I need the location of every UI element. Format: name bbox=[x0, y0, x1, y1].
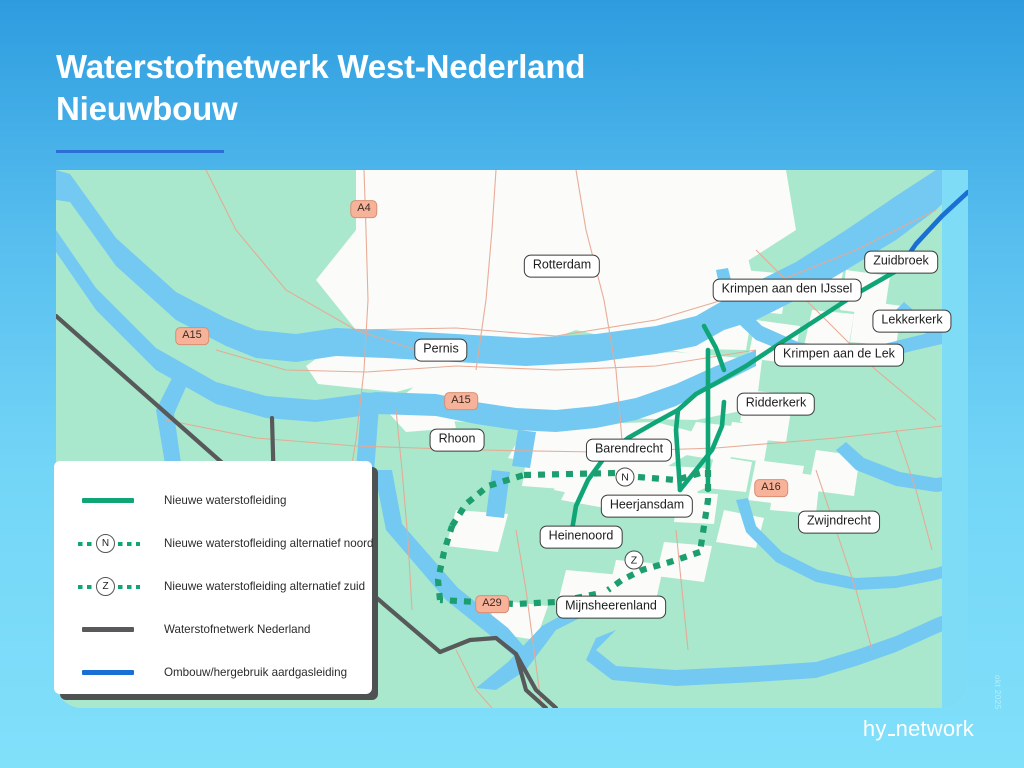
place-label: Krimpen aan den IJssel bbox=[713, 279, 862, 302]
legend-swatch-alt: N bbox=[78, 534, 164, 554]
place-label: Zwijndrecht bbox=[798, 511, 880, 534]
legend-label: Ombouw/hergebruik aardgasleiding bbox=[164, 666, 347, 679]
date-stamp: okt 2025 bbox=[993, 675, 1002, 710]
place-label: Pernis bbox=[414, 339, 467, 362]
legend-marker-n: N bbox=[96, 534, 115, 553]
legend-dash-right bbox=[118, 585, 140, 590]
legend-line-swatch bbox=[82, 498, 134, 503]
highway-shield: A15 bbox=[444, 392, 478, 410]
place-label: Rotterdam bbox=[524, 255, 600, 278]
legend-marker-z: Z bbox=[96, 577, 115, 596]
legend-swatch-solid bbox=[78, 491, 164, 511]
highway-shield: A4 bbox=[350, 200, 377, 218]
legend-swatch-solid bbox=[78, 620, 164, 640]
legend-label: Nieuwe waterstofleiding alternatief noor… bbox=[164, 537, 373, 550]
place-label: Mijnsheerenland bbox=[556, 596, 666, 619]
highway-shield: A29 bbox=[475, 595, 509, 613]
legend-label: Waterstofnetwerk Nederland bbox=[164, 623, 311, 636]
place-label: Barendrecht bbox=[586, 439, 672, 462]
brand-dash-icon bbox=[888, 734, 895, 736]
route-marker-z: Z bbox=[625, 551, 644, 570]
legend-row: ZNieuwe waterstofleiding alternatief zui… bbox=[54, 570, 372, 604]
route-marker-n: N bbox=[616, 468, 635, 487]
legend-label: Nieuwe waterstofleiding alternatief zuid bbox=[164, 580, 365, 593]
place-label: Heinenoord bbox=[540, 526, 623, 549]
legend-dash-left bbox=[78, 542, 96, 547]
coastal-water bbox=[942, 170, 968, 708]
legend-row: Nieuwe waterstofleiding bbox=[54, 484, 372, 518]
legend-label: Nieuwe waterstofleiding bbox=[164, 494, 286, 507]
title-underline-rule bbox=[56, 150, 224, 153]
legend-dash-left bbox=[78, 585, 96, 590]
legend-swatch-dashed: Z bbox=[74, 577, 146, 596]
brand-suffix: network bbox=[896, 716, 974, 742]
legend-panel: Nieuwe waterstofleidingNNieuwe waterstof… bbox=[54, 461, 372, 694]
legend-swatch-alt: Z bbox=[78, 577, 164, 597]
place-label: Rhoon bbox=[430, 429, 485, 452]
legend-line-swatch bbox=[82, 670, 134, 675]
place-label: Ridderkerk bbox=[737, 393, 815, 416]
legend-dash-right bbox=[118, 542, 140, 547]
brand-prefix: hy bbox=[863, 716, 887, 742]
legend-row: NNieuwe waterstofleiding alternatief noo… bbox=[54, 527, 372, 561]
place-label: Lekkerkerk bbox=[872, 310, 951, 333]
legend-swatch-dashed: N bbox=[74, 534, 146, 553]
page-title: Waterstofnetwerk West-Nederland Nieuwbou… bbox=[56, 46, 816, 130]
hynetwork-logo: hy network bbox=[863, 716, 974, 742]
highway-shield: A16 bbox=[754, 479, 788, 497]
header: Waterstofnetwerk West-Nederland Nieuwbou… bbox=[56, 46, 816, 153]
highway-shield: A15 bbox=[175, 327, 209, 345]
legend-line-swatch bbox=[82, 627, 134, 632]
place-label: Krimpen aan de Lek bbox=[774, 344, 904, 367]
legend-row: Waterstofnetwerk Nederland bbox=[54, 613, 372, 647]
legend-swatch-solid bbox=[78, 663, 164, 683]
legend-row: Ombouw/hergebruik aardgasleiding bbox=[54, 656, 372, 690]
place-label: Heerjansdam bbox=[601, 495, 693, 518]
place-label: Zuidbroek bbox=[864, 251, 938, 274]
